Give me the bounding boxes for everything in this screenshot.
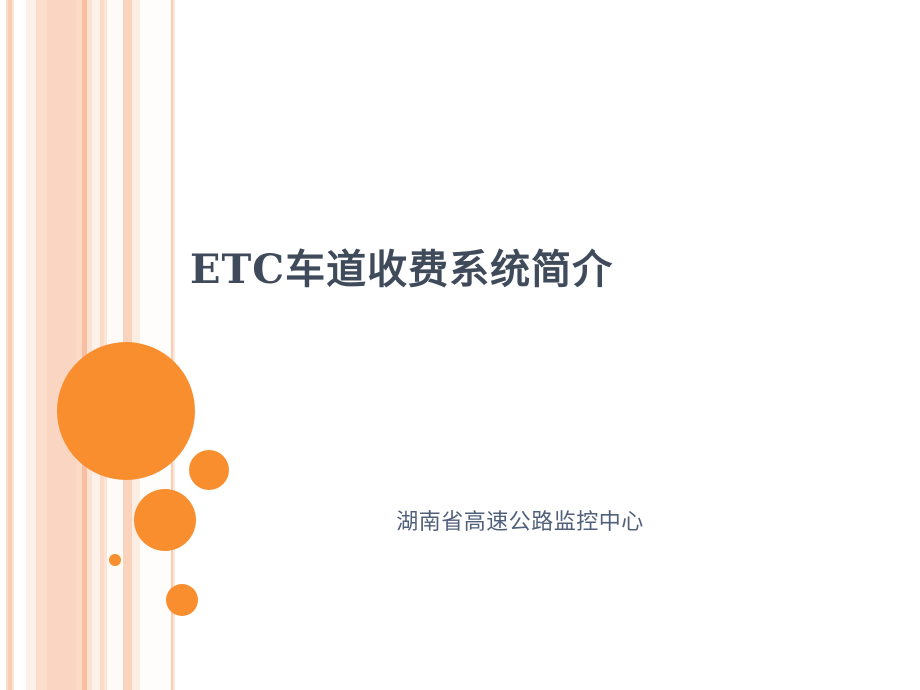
slide-subtitle-placeholder: 湖南省高速公路监控中心 [190, 500, 850, 540]
stripe-4 [26, 0, 36, 690]
stripe-5 [36, 0, 47, 690]
slide-canvas: ETC车道收费系统简介 湖南省高速公路监控中心 [0, 0, 920, 690]
slide-title: ETC车道收费系统简介 [190, 247, 613, 293]
decorative-stripe-band [0, 0, 190, 690]
stripe-3 [12, 0, 14, 690]
circle-large [57, 342, 195, 480]
slide-title-placeholder: ETC车道收费系统简介 [190, 232, 850, 308]
circle-bottom [166, 584, 198, 616]
circle-middle [134, 489, 196, 551]
stripe-10 [92, 0, 100, 690]
circle-right [189, 450, 229, 490]
stripe-6 [47, 0, 76, 690]
slide-subtitle: 湖南省高速公路监控中心 [396, 504, 644, 536]
circle-tiny [109, 554, 121, 566]
